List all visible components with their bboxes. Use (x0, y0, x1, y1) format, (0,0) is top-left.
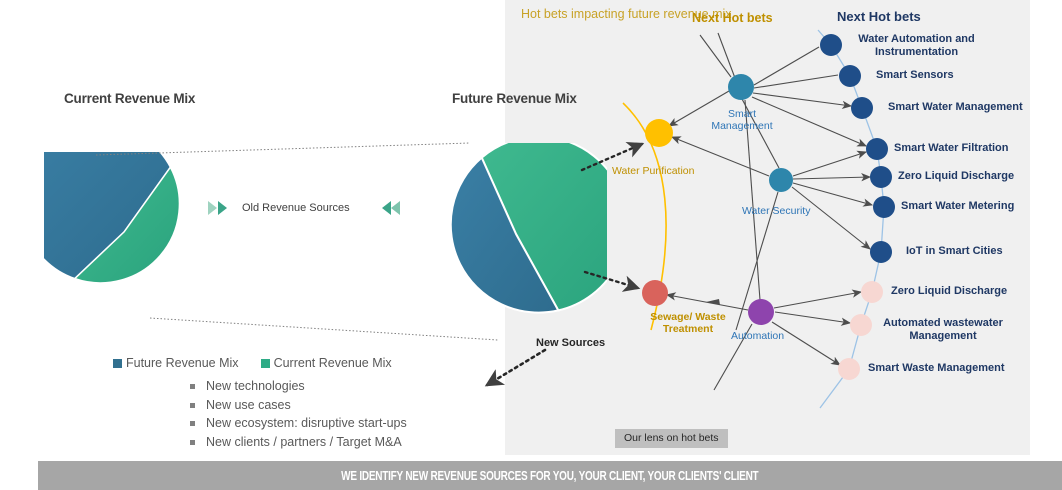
label-water-purification: Water Purification (612, 165, 694, 177)
node-automated-wastewater[interactable] (850, 314, 872, 336)
node-iot-smart-cities[interactable] (870, 241, 892, 263)
node-automation[interactable] (748, 299, 774, 325)
label-automation: Automation (731, 330, 784, 342)
next-hot-bets-heading-blue: Next Hot bets (837, 9, 921, 25)
label-iot-smart-cities: IoT in Smart Cities (906, 245, 1003, 258)
label-automated-wastewater: Automated wastewater Management (883, 317, 1003, 343)
label-zero-liquid-discharge-pink: Zero Liquid Discharge (891, 285, 1007, 298)
label-water-security: Water Security (742, 205, 810, 217)
label-smart-sensors: Smart Sensors (876, 69, 954, 82)
our-lens-pill: Our lens on hot bets (615, 429, 728, 448)
next-hot-bets-heading-yellow: Next Hot bets (692, 11, 773, 27)
label-smart-water-metering: Smart Water Metering (901, 200, 1014, 213)
node-water-security[interactable] (769, 168, 793, 192)
slide-root: Current Revenue Mix Future Revenue Mix (0, 0, 1062, 490)
bottom-banner: WE IDENTIFY NEW REVENUE SOURCES FOR YOU,… (38, 461, 1062, 490)
banner-text: WE IDENTIFY NEW REVENUE SOURCES FOR YOU,… (341, 469, 758, 483)
node-smart-sensors[interactable] (839, 65, 861, 87)
node-zero-liquid-discharge[interactable] (870, 166, 892, 188)
label-smart-waste-management: Smart Waste Management (868, 362, 1005, 375)
label-smart-water-management: Smart Water Management (888, 101, 1023, 114)
label-zero-liquid-discharge: Zero Liquid Discharge (898, 170, 1014, 183)
node-water-purification[interactable] (645, 119, 673, 147)
node-zero-liquid-discharge-pink[interactable] (861, 281, 883, 303)
node-smart-water-management[interactable] (851, 97, 873, 119)
label-water-automation: Water Automation and Instrumentation (849, 33, 984, 59)
label-smart-water-filtration: Smart Water Filtration (894, 142, 1009, 155)
hot-bets-heading: Hot bets impacting future revenue mix (521, 7, 681, 23)
node-water-automation[interactable] (820, 34, 842, 56)
node-smart-water-metering[interactable] (873, 196, 895, 218)
node-sewage-waste-treatment[interactable] (642, 280, 668, 306)
label-sewage-waste-treatment: Sewage/ Waste Treatment (643, 311, 733, 336)
label-smart-management: Smart Management (707, 108, 777, 133)
node-smart-waste-management[interactable] (838, 358, 860, 380)
node-smart-management[interactable] (728, 74, 754, 100)
node-smart-water-filtration[interactable] (866, 138, 888, 160)
